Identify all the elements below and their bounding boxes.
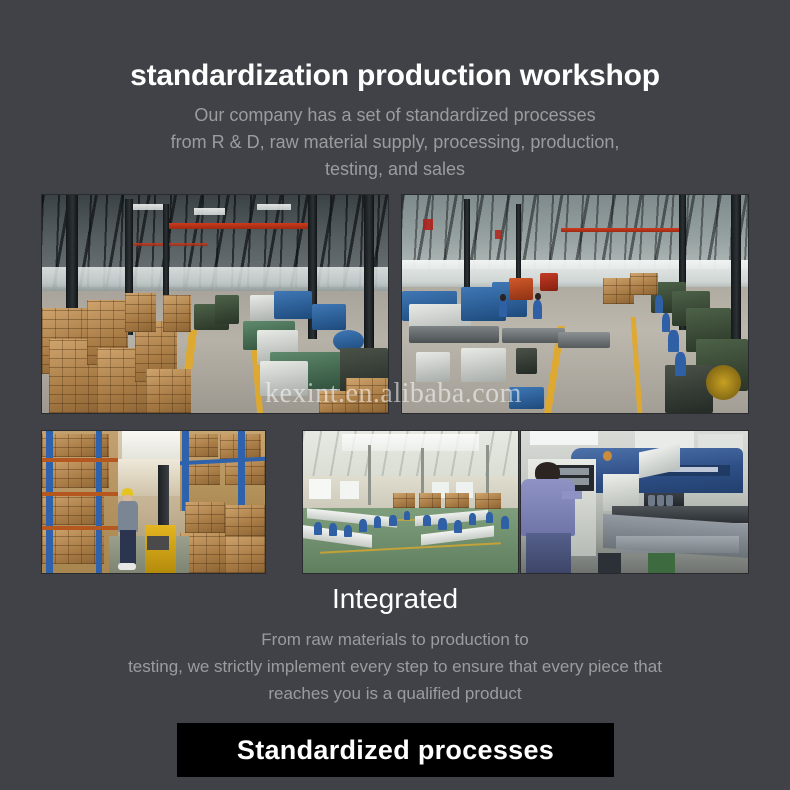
footer-block: Integrated From raw materials to product… xyxy=(0,582,790,707)
photo-5-scene xyxy=(521,431,748,573)
promo-banner-page: standardization production workshop Our … xyxy=(0,0,790,790)
photo-workshop-injection-molding-hall xyxy=(42,195,388,413)
footer-subtitle: From raw materials to production to test… xyxy=(0,626,790,707)
photo-3-scene xyxy=(42,431,265,573)
photo-assembly-line-hall xyxy=(303,431,518,573)
footer-subtitle-line-3: reaches you is a qualified product xyxy=(0,680,790,707)
footer-subtitle-line-1: From raw materials to production to xyxy=(0,626,790,653)
photo-1-scene xyxy=(42,195,388,413)
footer-title: Integrated xyxy=(0,582,790,616)
footer-subtitle-line-2: testing, we strictly implement every ste… xyxy=(0,653,790,680)
photo-4-scene xyxy=(303,431,518,573)
photo-cnc-turret-punch-press xyxy=(521,431,748,573)
photo-workshop-press-and-punching-hall xyxy=(402,195,748,413)
banner-label: Standardized processes xyxy=(237,735,554,766)
photo-warehouse-forklift-operator xyxy=(42,431,265,573)
standardized-processes-banner: Standardized processes xyxy=(177,723,614,777)
photo-2-scene xyxy=(402,195,748,413)
